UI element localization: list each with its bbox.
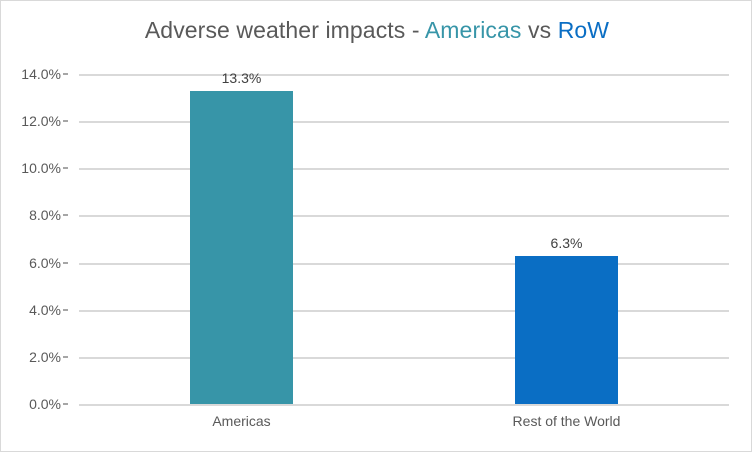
gridline — [79, 74, 729, 76]
y-axis-tick-label: 4.0% — [0, 302, 61, 318]
chart-title-segment-main: Adverse weather impacts - — [145, 17, 425, 43]
chart-title-segment-vs: vs — [522, 17, 558, 43]
chart-container: Adverse weather impacts - Americas vs Ro… — [0, 0, 752, 452]
gridline — [79, 121, 729, 123]
y-axis-tick-label: 14.0% — [0, 66, 61, 82]
y-axis-tick-label: 10.0% — [0, 160, 61, 176]
y-axis-tick-label: 8.0% — [0, 207, 61, 223]
bar-value-label: 13.3% — [222, 70, 262, 86]
y-axis-tick-label: 12.0% — [0, 113, 61, 129]
bar[interactable]: 6.3% — [515, 256, 618, 405]
gridline — [79, 310, 729, 312]
y-axis-tick-mark — [63, 403, 68, 405]
y-axis-tick-label: 2.0% — [0, 349, 61, 365]
x-axis-category-label: Americas — [212, 413, 270, 429]
chart-title: Adverse weather impacts - Americas vs Ro… — [1, 17, 752, 44]
chart-title-segment-americas: Americas — [425, 17, 522, 43]
y-axis-tick-mark — [63, 120, 68, 122]
y-axis-tick-mark — [63, 167, 68, 169]
gridline — [79, 215, 729, 217]
y-axis-tick-mark — [63, 356, 68, 358]
gridline — [79, 168, 729, 170]
y-axis-tick-mark — [63, 309, 68, 311]
y-axis-tick-label: 6.0% — [0, 255, 61, 271]
bar[interactable]: 13.3% — [190, 91, 293, 405]
gridline — [79, 263, 729, 265]
y-axis-tick-label: 0.0% — [0, 396, 61, 412]
x-axis-baseline — [79, 404, 729, 406]
gridline — [79, 357, 729, 359]
y-axis-tick-mark — [63, 73, 68, 75]
chart-title-segment-row: RoW — [558, 17, 609, 43]
x-axis-category-label: Rest of the World — [513, 413, 621, 429]
y-axis-tick-mark — [63, 262, 68, 264]
bar-value-label: 6.3% — [551, 235, 583, 251]
plot-area: 13.3%6.3% — [79, 74, 729, 404]
y-axis-tick-mark — [63, 214, 68, 216]
